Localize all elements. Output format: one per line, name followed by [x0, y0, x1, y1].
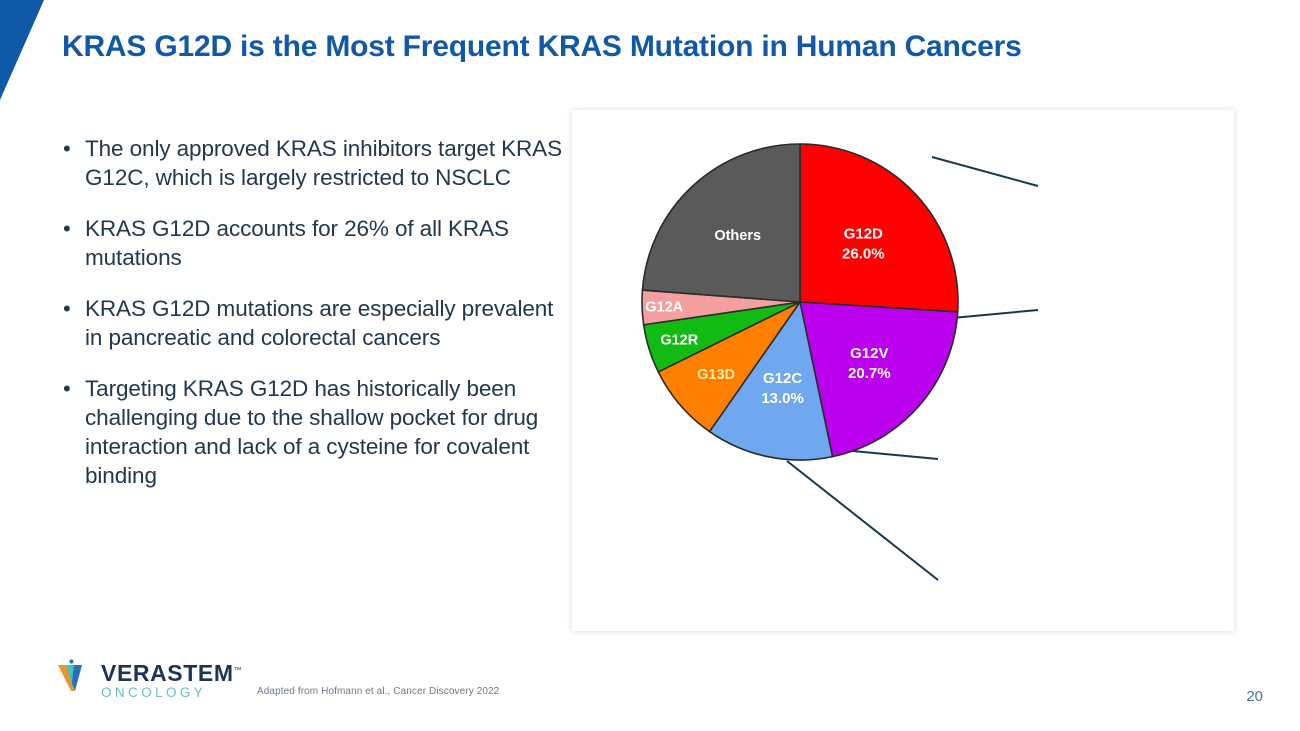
logo-trademark: ™	[234, 665, 243, 674]
pie-slice-label-g12c: G12C	[763, 370, 802, 387]
pie-slice-label-g12a: G12A	[645, 300, 683, 316]
logo-wordmark: VERASTEM™	[101, 662, 242, 685]
bullet-marker-icon: •	[60, 374, 85, 403]
bullet-text: KRAS G12D accounts for 26% of all KRAS m…	[85, 214, 570, 272]
logo-text-block: VERASTEM™ ONCOLOGY	[101, 662, 242, 700]
pie-slice-value-g12v: 20.7%	[848, 365, 891, 382]
kras-mutation-pie-chart: G12D26.0%G12V20.7%G12C13.0%G13DG12RG12AO…	[572, 110, 1234, 631]
page-title: KRAS G12D is the Most Frequent KRAS Muta…	[62, 30, 1182, 65]
list-item: • Targeting KRAS G12D has historically b…	[60, 374, 570, 490]
page-number: 20	[1246, 688, 1263, 705]
source-citation: Adapted from Hofmann et al., Cancer Disc…	[257, 686, 499, 697]
pie-slice-label-g12v: G12V	[850, 345, 888, 362]
verastem-logo: VERASTEM™ ONCOLOGY	[56, 659, 242, 702]
pie-slice-label-g12d: G12D	[844, 226, 883, 243]
pie-slice-group	[642, 144, 958, 460]
pie-slice-label-g12r: G12R	[660, 333, 698, 349]
pie-slice-label-others: Others	[714, 228, 761, 244]
verastem-v-mark-icon	[56, 659, 94, 702]
pie-slice-value-g12c: 13.0%	[761, 390, 804, 407]
bullet-text: The only approved KRAS inhibitors target…	[85, 134, 570, 192]
pie-slice-others	[642, 144, 800, 302]
bullet-text: KRAS G12D mutations are especially preva…	[85, 294, 570, 352]
list-item: • The only approved KRAS inhibitors targ…	[60, 134, 570, 192]
pie-slice-value-g12d: 26.0%	[842, 246, 885, 263]
pie-slice-label-g13d: G13D	[697, 367, 735, 383]
bullet-list: • The only approved KRAS inhibitors targ…	[60, 134, 570, 512]
list-item: • KRAS G12D accounts for 26% of all KRAS…	[60, 214, 570, 272]
corner-accent-shape	[0, 0, 44, 100]
bullet-marker-icon: •	[60, 214, 85, 243]
list-item: • KRAS G12D mutations are especially pre…	[60, 294, 570, 352]
bullet-marker-icon: •	[60, 134, 85, 163]
chart-panel: G12D26.0%G12V20.7%G12C13.0%G13DG12RG12AO…	[572, 110, 1234, 631]
bullet-marker-icon: •	[60, 294, 85, 323]
logo-word-text: VERASTEM	[101, 660, 234, 686]
bullet-text: Targeting KRAS G12D has historically bee…	[85, 374, 570, 490]
logo-subtitle: ONCOLOGY	[101, 686, 242, 700]
